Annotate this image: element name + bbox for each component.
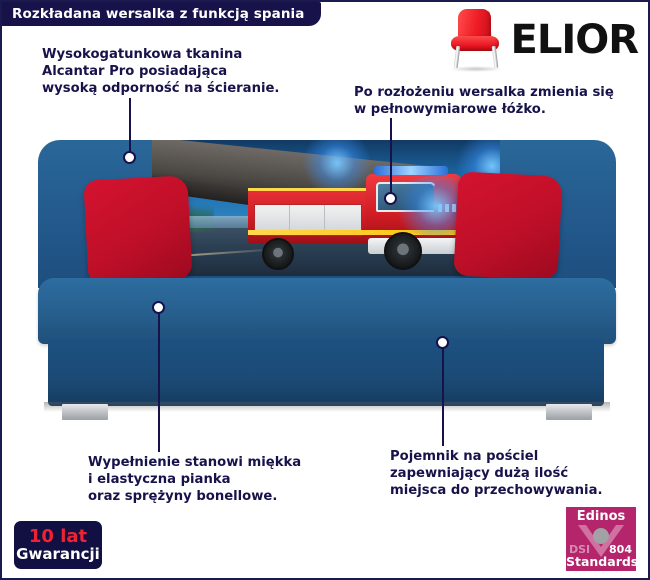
edinos-brand: Edinos (566, 509, 636, 524)
callout-line-storage (442, 348, 444, 446)
sofa-leg-left (62, 404, 108, 420)
callout-label-bed: Po rozłożeniu wersalka zmienia się w peł… (354, 84, 614, 118)
sofa-seat (38, 278, 616, 344)
callout-label-storage: Pojemnik na pościel zapewniający dużą il… (390, 448, 602, 499)
sofa-storage-base (48, 338, 604, 406)
page-title: Rozkładana wersalka z funkcją spania (2, 2, 321, 26)
callout-marker-bed (384, 192, 397, 205)
sofa-leg-right (546, 404, 592, 420)
brand-logo: ELIOR (478, 6, 638, 74)
edinos-standards-badge: Edinos DSI 804 Standards (566, 507, 636, 571)
callout-line-fabric (129, 98, 131, 158)
fire-truck-print-panel (152, 140, 500, 276)
sofa-shadow (44, 402, 610, 412)
infographic-page: Rozkładana wersalka z funkcją spania ELI… (0, 0, 650, 580)
brand-name: ELIOR (511, 20, 639, 60)
callout-marker-storage (436, 336, 449, 349)
callout-line-bed (390, 118, 392, 198)
product-sofa-image (38, 140, 616, 425)
callout-line-filling (158, 308, 160, 452)
callout-marker-filling (152, 301, 165, 314)
warranty-word: Gwarancji (16, 546, 100, 563)
callout-marker-fabric (123, 151, 136, 164)
red-chair-icon (447, 8, 505, 72)
decorative-cushion-right (453, 171, 562, 280)
decorative-cushion-left (83, 175, 192, 284)
edinos-standards-label: Standards (566, 554, 636, 569)
warranty-badge: 10 lat Gwarancji (14, 521, 102, 569)
callout-label-filling: Wypełnienie stanowi miękka i elastyczna … (88, 454, 301, 505)
warranty-years: 10 lat (29, 527, 87, 546)
callout-label-fabric: Wysokogatunkowa tkanina Alcantar Pro pos… (42, 46, 279, 97)
